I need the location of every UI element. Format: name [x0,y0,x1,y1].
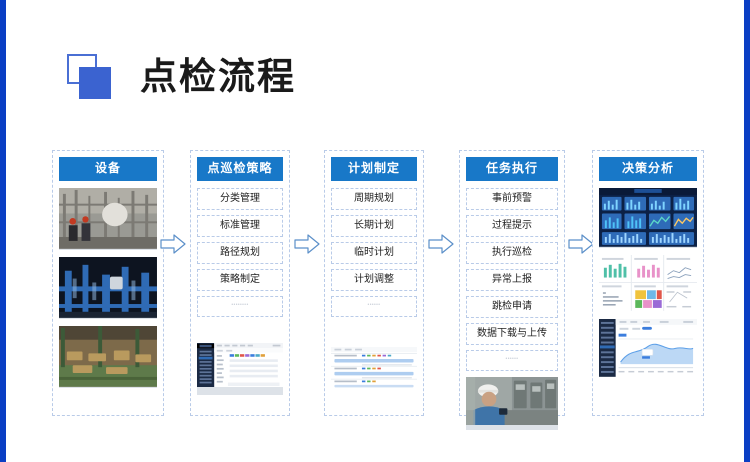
flow-column-analysis[interactable]: 决策分析 [592,150,704,416]
process-flow: 设备 [0,150,750,420]
column-header: 计划制定 [331,157,417,181]
analysis-screenshot-trend-report [599,319,697,378]
page-title: 点检流程 [140,58,296,95]
list-item[interactable]: 策略制定 [197,269,283,291]
analysis-screenshot-chart-grid [599,255,697,312]
column-images [331,347,417,395]
list-item[interactable]: 临时计划 [331,242,417,264]
column-header: 点巡检策略 [197,157,283,181]
list-item-placeholder[interactable]: •••••• [331,296,417,317]
column-items: 周期规划 长期计划 临时计划 计划调整 •••••• [331,188,417,317]
column-header: 任务执行 [466,157,558,181]
column-images [599,188,697,378]
list-item[interactable]: 过程提示 [466,215,558,237]
column-images [59,188,157,388]
flow-arrow-4 [568,234,594,254]
list-item[interactable]: 异常上报 [466,269,558,291]
column-items: 分类管理 标准管理 路径规划 策略制定 •••••••• [197,188,283,317]
equipment-photo-refinery-workers [59,188,157,250]
brand-logo [64,52,116,100]
flow-column-equipment[interactable]: 设备 [52,150,164,416]
list-item[interactable]: 计划调整 [331,269,417,291]
list-item[interactable]: 长期计划 [331,215,417,237]
column-images [466,377,558,430]
list-item[interactable]: 路径规划 [197,242,283,264]
list-item-placeholder[interactable]: •••••••• [197,296,283,317]
execution-photo-inspector [466,377,558,430]
list-item-placeholder[interactable]: •••••• [466,350,558,371]
flow-arrow-2 [294,234,320,254]
flow-arrow-1 [160,234,186,254]
strategy-screenshot-admin-table [197,343,283,395]
analysis-screenshot-dark-dashboard [599,188,697,248]
list-item[interactable]: 执行巡检 [466,242,558,264]
list-item[interactable]: 周期规划 [331,188,417,210]
column-header: 设备 [59,157,157,181]
flow-column-execution[interactable]: 任务执行 事前预警 过程提示 执行巡检 异常上报 跳检申请 数据下载与上传 ••… [459,150,565,416]
plan-screenshot-gantt-timeline [331,347,417,395]
flow-column-strategy[interactable]: 点巡检策略 分类管理 标准管理 路径规划 策略制定 •••••••• [190,150,290,416]
list-item[interactable]: 数据下载与上传 [466,323,558,345]
column-images [197,343,283,395]
flow-column-planning[interactable]: 计划制定 周期规划 长期计划 临时计划 计划调整 •••••• [324,150,424,416]
list-item[interactable]: 事前预警 [466,188,558,210]
list-item[interactable]: 标准管理 [197,215,283,237]
column-header: 决策分析 [599,157,697,181]
column-items: 事前预警 过程提示 执行巡检 异常上报 跳检申请 数据下载与上传 •••••• [466,188,558,371]
flow-arrow-3 [428,234,454,254]
equipment-photo-blue-pipeline [59,257,157,319]
square-filled-icon [79,67,111,99]
list-item[interactable]: 跳检申请 [466,296,558,318]
list-item[interactable]: 分类管理 [197,188,283,210]
title-row: 点检流程 [64,52,296,100]
equipment-photo-workshop-yard [59,326,157,388]
